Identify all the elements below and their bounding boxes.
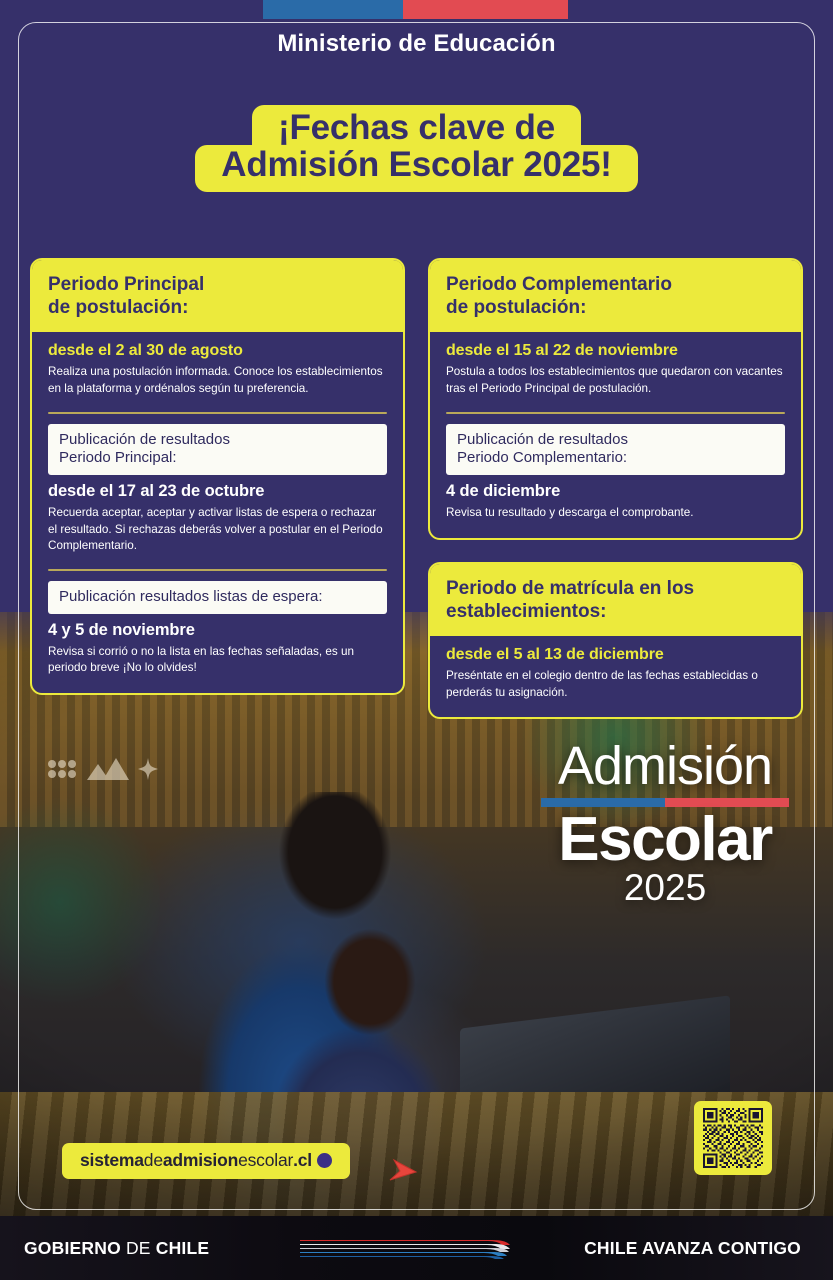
brand-line-escolar: Escolar [520,809,810,871]
subsection-label-line-1: Publicación resultados listas de espera: [59,588,376,607]
four-point-star-icon [138,758,158,780]
card-header: Periodo Principalde postulación: [32,260,403,332]
subsection-label-line-2: Periodo Principal: [59,449,376,468]
section-divider [48,412,387,414]
card-title-line-2: de postulación: [48,296,387,319]
card-header: Periodo de matrícula en losestablecimien… [430,564,801,636]
card-primary-date: desde el 15 al 22 de noviembre [446,342,785,360]
section-divider [446,412,785,414]
period-card: Periodo Complementariode postulación:des… [428,258,803,540]
subsection-label-line-1: Publicación de resultados [457,431,774,450]
url-dot-marker [317,1153,332,1168]
brand-line-admision: Admisión [520,740,810,793]
card-title-line-1: Periodo Principal [48,273,387,296]
mountains-icon [87,758,129,780]
url-part-cl: .cl [293,1150,312,1171]
gob-bold-1: GOBIERNO [24,1238,121,1258]
card-body: desde el 15 al 22 de noviembrePostula a … [430,332,801,537]
footer-bar: GOBIERNO DE CHILE CHILE AVANZA CONTIGO [0,1216,833,1280]
website-url-pill[interactable]: sistemadeadmisionescolar.cl [62,1143,350,1179]
poster-canvas: Ministerio de Educación ¡Fechas clave de… [0,0,833,1216]
subsection-date: 4 y 5 de noviembre [48,621,387,640]
flag-red-block [403,0,568,19]
card-title-line-1: Periodo de matrícula en los [446,577,785,600]
subsection-description: Revisa si corrió o no la lista en las fe… [48,644,387,677]
card-primary-date: desde el 5 al 13 de diciembre [446,646,785,664]
card-title-line-2: establecimientos: [446,600,785,623]
gob-light: DE [121,1238,156,1258]
right-column: Periodo Complementariode postulación:des… [428,258,803,741]
subsection-date: desde el 17 al 23 de octubre [48,482,387,501]
headline-line-1: ¡Fechas clave de [252,105,581,148]
period-card: Periodo de matrícula en losestablecimien… [428,562,803,720]
card-body: desde el 2 al 30 de agostoRealiza una po… [32,332,403,693]
qr-code-icon[interactable] [694,1101,772,1175]
url-part-de: de [144,1150,163,1171]
cursor-arrow-icon [386,1154,420,1193]
flag-blue-block [263,0,403,19]
subsection-label-box: Publicación resultados listas de espera: [48,581,387,614]
subsection-label-line-2: Periodo Complementario: [457,449,774,468]
top-flag-strip [0,0,833,19]
gob-bold-2: CHILE [156,1238,210,1258]
subsection-date: 4 de diciembre [446,482,785,501]
headline-line-2: Admisión Escolar 2025! [195,145,637,191]
subsection-description: Recuerda aceptar, aceptar y activar list… [48,505,387,555]
card-body: desde el 5 al 13 de diciembrePreséntate … [430,636,801,717]
card-description: Realiza una postulación informada. Conoc… [48,364,387,397]
gobierno-flag-logo-icon [296,1238,518,1260]
card-description: Preséntate en el colegio dentro de las f… [446,668,785,701]
card-primary-date: desde el 2 al 30 de agosto [48,342,387,360]
decorative-icon-row [48,758,158,780]
ministry-title: Ministerio de Educación [0,30,833,58]
card-description: Postula a todos los establecimientos que… [446,364,785,397]
url-part-escolar: escolar [238,1150,293,1171]
subsection-label-box: Publicación de resultadosPeriodo Princip… [48,424,387,476]
left-column: Periodo Principalde postulación:desde el… [30,258,405,717]
brand-year: 2025 [520,869,810,908]
headline-block: ¡Fechas clave de Admisión Escolar 2025! [0,105,833,192]
subsection-description: Revisa tu resultado y descarga el compro… [446,505,785,522]
subsection-label-box: Publicación de resultadosPeriodo Complem… [446,424,785,476]
card-header: Periodo Complementariode postulación: [430,260,801,332]
brand-lockup: Admisión Escolar 2025 [520,740,810,908]
subsection-label-line-1: Publicación de resultados [59,431,376,450]
card-title-line-2: de postulación: [446,296,785,319]
url-part-sistema: sistema [80,1150,144,1171]
card-title-line-1: Periodo Complementario [446,273,785,296]
url-part-admision: admision [163,1150,238,1171]
section-divider [48,569,387,571]
qr-code-image [701,1108,765,1168]
period-card: Periodo Principalde postulación:desde el… [30,258,405,695]
gobierno-de-chile-label: GOBIERNO DE CHILE [24,1238,209,1259]
chile-avanza-contigo-label: CHILE AVANZA CONTIGO [584,1238,801,1259]
dots-grid-icon [48,759,78,779]
